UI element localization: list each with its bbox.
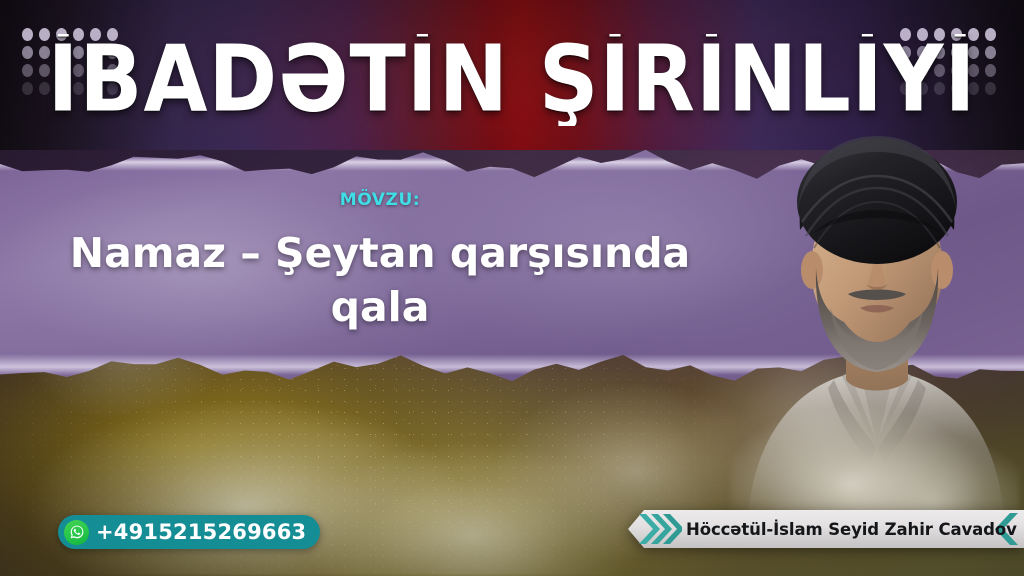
speaker-name-banner: Höccətül-İslam Seyid Zahir Cavadov (628, 510, 1024, 548)
topic-label: MÖVZU: (0, 190, 760, 210)
topic-title: Namaz – Şeytan qarşısında qala (0, 226, 760, 334)
chevron-right-icon (638, 513, 682, 545)
whatsapp-icon (64, 520, 89, 545)
lecture-poster: İBADƏTİN ŞİRİNLİYİ MÖVZU: Namaz – Şeytan… (0, 0, 1024, 576)
whatsapp-contact-badge[interactable]: +4915215269663 (58, 515, 320, 549)
poster-title: İBADƏTİN ŞİRİNLİYİ (0, 34, 1024, 126)
topic-block: MÖVZU: Namaz – Şeytan qarşısında qala (0, 190, 760, 334)
speaker-portrait (730, 118, 1020, 518)
speaker-name: Höccətül-İslam Seyid Zahir Cavadov (686, 520, 1017, 539)
whatsapp-number: +4915215269663 (96, 520, 306, 544)
